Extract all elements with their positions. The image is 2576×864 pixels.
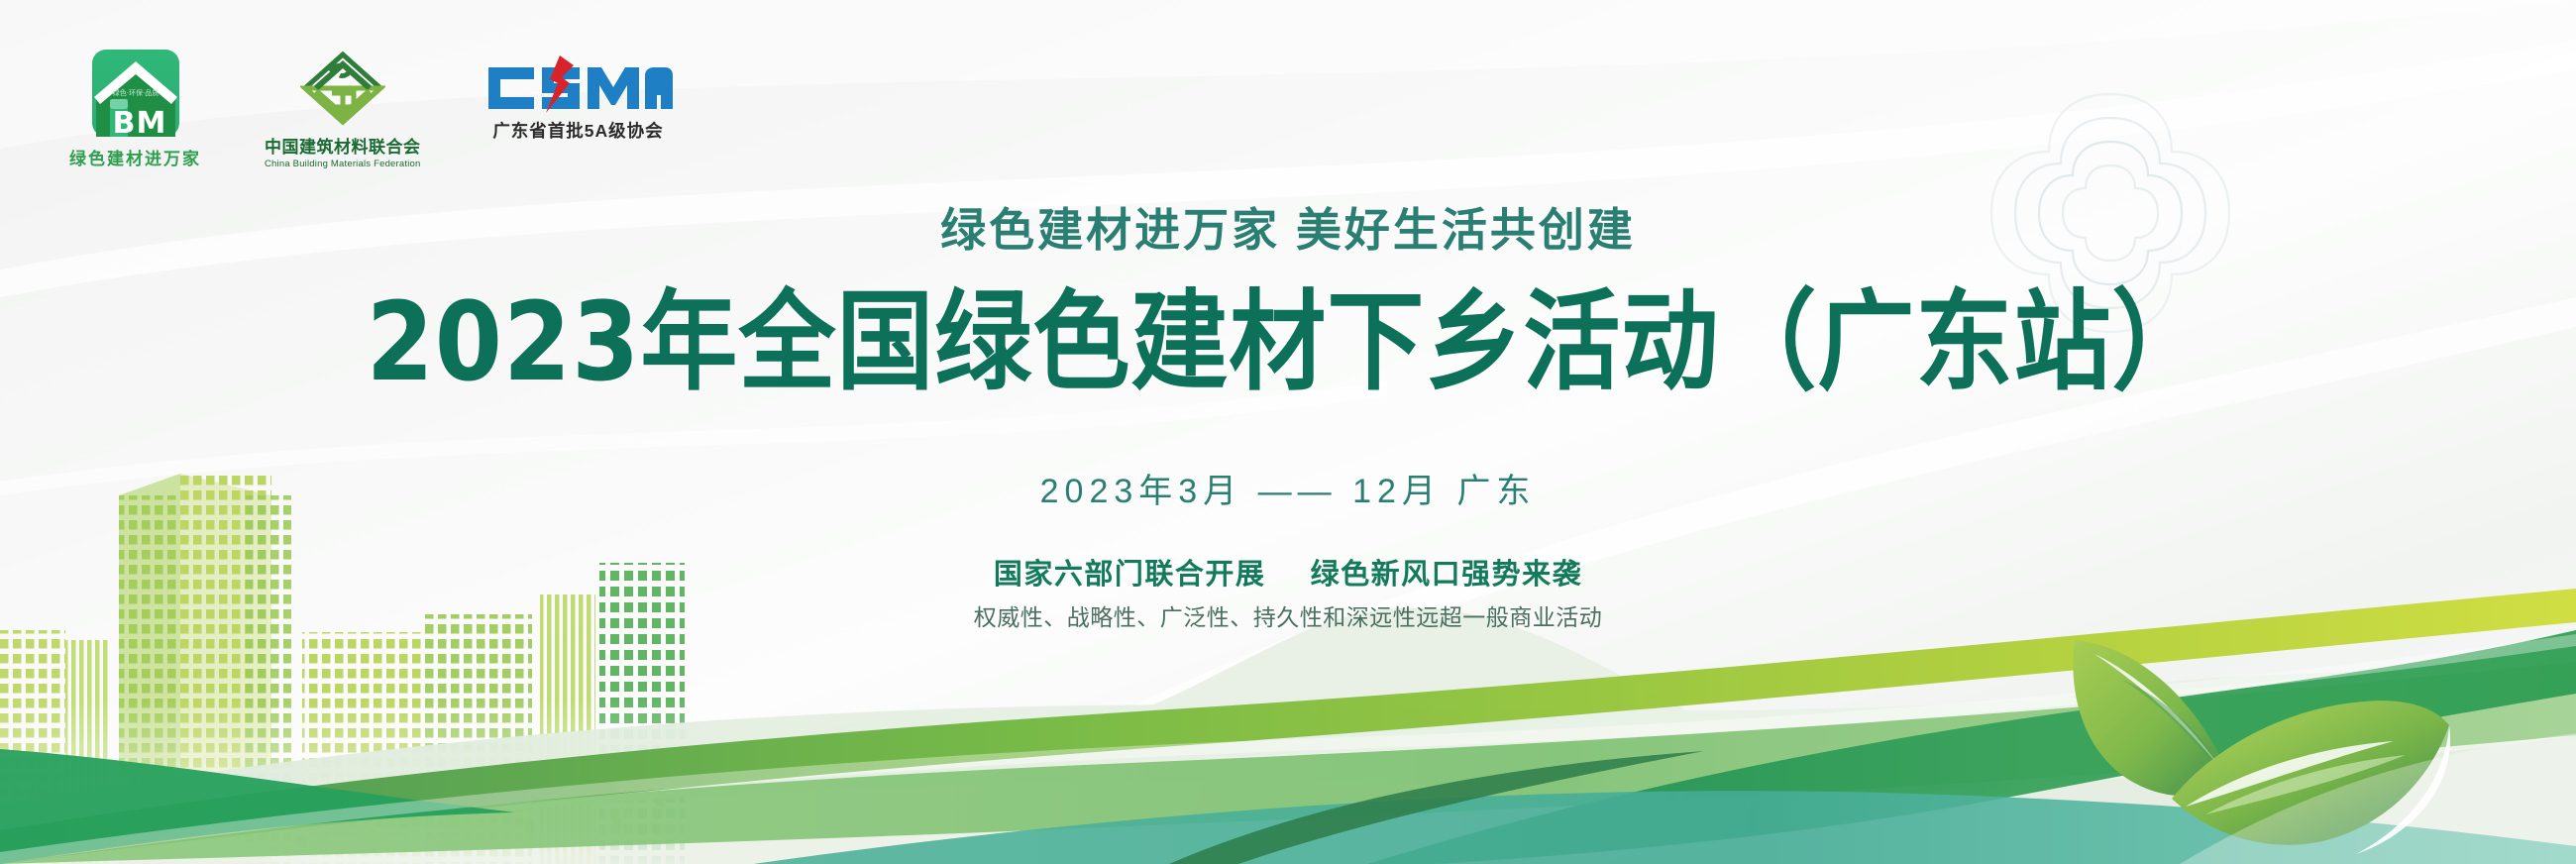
leaf-front [2172,701,2450,854]
ribbon-left-wedge [0,749,515,864]
banner-dateline: 2023年3月 —— 12月 广东 [0,464,2576,512]
ribbon-dark-green [1367,630,2576,864]
event-banner: 绿色·环保·品质 BM 绿色建材进万家 中国建筑材料联合会 China Buil… [0,0,2576,864]
city-skyline [0,474,789,864]
green-building-material-logo[interactable]: 绿色·环保·品质 BM 绿色建材进万家 [69,48,201,169]
ribbon-accent-stroke [1169,751,1704,864]
logo-caption-en: China Building Materials Federation [265,159,421,169]
diamond-cbmf-icon [300,50,385,127]
cbmf-logo[interactable]: 中国建筑材料联合会 China Building Materials Feder… [265,50,421,169]
partner-logo-row: 绿色·环保·品质 BM 绿色建材进万家 中国建筑材料联合会 China Buil… [69,48,673,169]
building-6 [694,594,789,864]
building-3 [302,614,532,864]
ribbon-mid-green [0,662,2576,864]
banner-fineprint: 权威性、战略性、广泛性、持久性和深远性远超一般商业活动 [0,598,2576,632]
cbma-logo[interactable]: 广东省首批5A级协会 [484,54,673,143]
soft-hills [0,608,2576,864]
banner-headline: 2023年全国绿色建材下乡活动（广东站） [0,285,2576,403]
svg-text:BM: BM [112,106,166,139]
logo-caption-cn: 绿色建材进万家 [69,145,201,169]
cbma-wordmark-icon [484,54,673,115]
building-1 [0,630,109,864]
tagline-right: 绿色新风口强势来袭 [1311,559,1583,591]
pixel-scatter [149,783,750,847]
leaf-pair [2073,640,2450,854]
building-4 [540,594,595,864]
ribbon-teal [753,791,2576,864]
building-2 [119,474,291,864]
banner-subtitle: 绿色建材进万家 美好生活共创建 [0,194,2576,260]
house-gbm-icon: 绿色·环保·品质 BM [90,48,181,139]
logo-caption-cn: 中国建筑材料联合会 [265,133,421,158]
logo-caption-cn: 广东省首批5A级协会 [492,118,663,143]
banner-tagline: 国家六部门联合开展 绿色新风口强势来袭 [0,551,2576,593]
leaf-back [2073,640,2233,796]
tagline-left: 国家六部门联合开展 [994,559,1266,591]
svg-text:绿色·环保·品质: 绿色·环保·品质 [112,88,158,97]
